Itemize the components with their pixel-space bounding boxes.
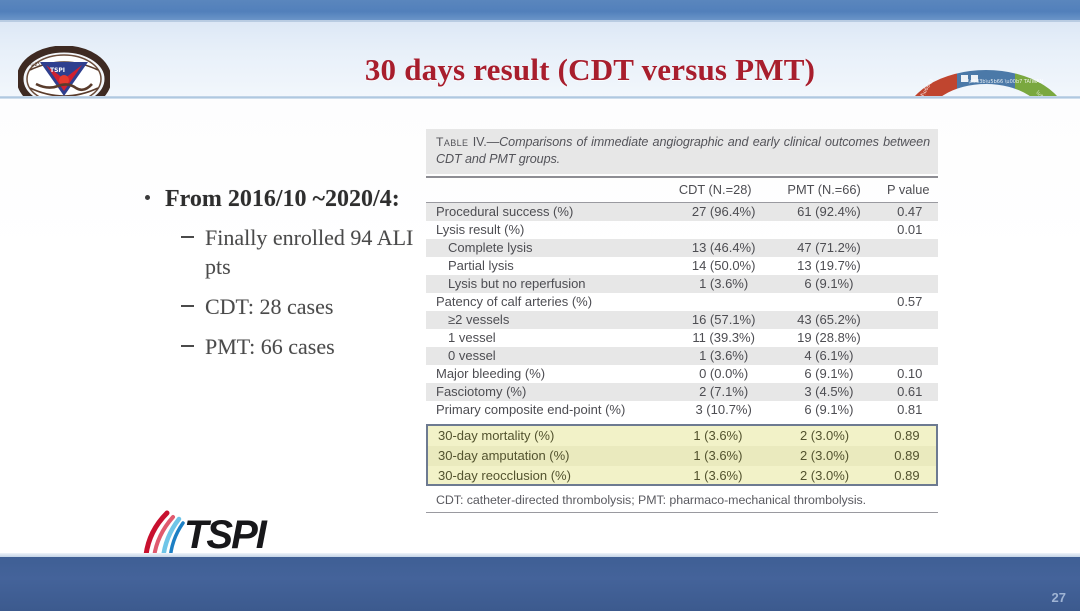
cell-pvalue: 0.57 [882,293,938,311]
results-table-body: Procedural success (%)27 (96.4%)61 (92.4… [426,203,938,419]
bullet-list: From 2016/10 ~2020/4: Finally enrolled 9… [139,183,429,372]
bullet-level2-label: PMT: 66 cases [205,334,335,359]
col-head-pvalue: P value [879,178,938,202]
page-number: 27 [1052,590,1066,605]
cell-pvalue [882,347,938,365]
bullet-level1-label: From 2016/10 ~2020/4: [165,186,400,212]
cell-pmt: 61 (92.4%) [776,203,881,221]
cell-cdt: 2 (7.1%) [671,383,776,401]
cell-pmt: 2 (3.0%) [771,426,878,446]
journal-table-figure: Table IV.—Comparisons of immediate angio… [426,129,938,419]
cell-pmt [776,221,881,239]
cell-pvalue: 0.47 [882,203,938,221]
cell-pvalue [882,311,938,329]
bullet-level2-label: Finally enrolled 94 ALI pts [205,225,413,279]
table-head: CDT (N.=28) PMT (N.=66) P value [426,178,938,202]
cell-pvalue: 0.01 [882,221,938,239]
table-row: Lysis but no reperfusion1 (3.6%)6 (9.1%) [426,275,938,293]
bullet-sublist: Finally enrolled 94 ALI pts CDT: 28 case… [139,223,429,361]
bullet-level2-label: CDT: 28 cases [205,294,333,319]
col-head-cdt: CDT (N.=28) [661,178,770,202]
bullet-level2: CDT: 28 cases [181,292,429,321]
video-bottom-letterbox: 27 [0,557,1080,611]
cell-pvalue [882,329,938,347]
cell-pmt: 2 (3.0%) [771,466,878,486]
highlight-row: 30-day amputation (%)1 (3.6%)2 (3.0%)0.8… [428,446,936,466]
table-row: Primary composite end-point (%)3 (10.7%)… [426,401,938,419]
cell-pmt [776,293,881,311]
page-title: 30 days result (CDT versus PMT) [300,52,880,88]
col-head-pmt: PMT (N.=66) [770,178,879,202]
cell-pvalue: 0.61 [882,383,938,401]
highlight-row: 30-day reocclusion (%)1 (3.6%)2 (3.0%)0.… [428,466,936,486]
cell-pvalue [882,275,938,293]
cell-label: ≥2 vessels [426,311,671,329]
svg-text:\u533b\u5b66 \u00b7 TAIWAN: \u533b\u5b66 \u00b7 TAIWAN [968,79,1044,85]
results-table: CDT (N.=28) PMT (N.=66) P value [426,178,938,202]
table-footnote-block: CDT: catheter-directed thrombolysis; PMT… [426,489,938,513]
bullet-level1: From 2016/10 ~2020/4: [139,183,429,216]
cell-label: Primary composite end-point (%) [426,401,671,419]
cell-cdt: 16 (57.1%) [671,311,776,329]
cell-cdt [671,293,776,311]
table-row: Major bleeding (%)0 (0.0%)6 (9.1%)0.10 [426,365,938,383]
cell-label: Partial lysis [426,257,671,275]
cell-label: 30-day reocclusion (%) [428,466,665,486]
cell-label: Fasciotomy (%) [426,383,671,401]
cell-cdt: 14 (50.0%) [671,257,776,275]
table-row: Fasciotomy (%)2 (7.1%)3 (4.5%)0.61 [426,383,938,401]
slide-header: \u25aa TSPI 30 days result (CDT versus P… [0,22,1080,98]
cell-cdt: 3 (10.7%) [671,401,776,419]
cell-cdt: 1 (3.6%) [671,347,776,365]
cell-cdt: 1 (3.6%) [665,426,772,446]
cell-cdt: 13 (46.4%) [671,239,776,257]
cell-pvalue [882,239,938,257]
table-footnote: CDT: catheter-directed thrombolysis; PMT… [426,489,938,511]
cell-label: 0 vessel [426,347,671,365]
slide-body: From 2016/10 ~2020/4: Finally enrolled 9… [0,99,1080,556]
table-caption-text: Comparisons of immediate angiographic an… [436,135,930,166]
thirty-day-table: 30-day mortality (%)1 (3.6%)2 (3.0%)0.89… [428,426,936,486]
cell-label: Procedural success (%) [426,203,671,221]
cell-pmt: 19 (28.8%) [776,329,881,347]
bullet-dot-icon [145,195,150,200]
table-row: Complete lysis13 (46.4%)47 (71.2%) [426,239,938,257]
table-header-row: CDT (N.=28) PMT (N.=66) P value [426,178,938,202]
cell-pmt: 6 (9.1%) [776,275,881,293]
dash-icon [181,236,194,238]
cell-cdt: 1 (3.6%) [665,466,772,486]
cell-label: Major bleeding (%) [426,365,671,383]
thirty-day-highlight-box: 30-day mortality (%)1 (3.6%)2 (3.0%)0.89… [426,424,938,486]
table-row: Lysis result (%)0.01 [426,221,938,239]
cell-pvalue: 0.89 [878,446,936,466]
video-top-letterbox [0,0,1080,21]
cell-label: Lysis result (%) [426,221,671,239]
cell-cdt [671,221,776,239]
cell-pmt: 2 (3.0%) [771,446,878,466]
cell-cdt: 27 (96.4%) [671,203,776,221]
cell-label: Complete lysis [426,239,671,257]
cell-label: 30-day mortality (%) [428,426,665,446]
table-caption: Table IV.—Comparisons of immediate angio… [426,129,938,174]
svg-text:TSPI: TSPI [50,67,65,74]
cell-label: 1 vessel [426,329,671,347]
cell-cdt: 1 (3.6%) [665,446,772,466]
tspi-wordmark: TSPI [184,513,265,558]
cell-pmt: 13 (19.7%) [776,257,881,275]
cell-pmt: 43 (65.2%) [776,311,881,329]
table-caption-label: Table [436,135,468,149]
cell-pmt: 3 (4.5%) [776,383,881,401]
cell-pmt: 4 (6.1%) [776,347,881,365]
cell-label: Patency of calf arteries (%) [426,293,671,311]
table-row: 1 vessel11 (39.3%)19 (28.8%) [426,329,938,347]
table-row: 0 vessel1 (3.6%)4 (6.1%) [426,347,938,365]
bullet-level2: PMT: 66 cases [181,332,429,361]
highlight-row: 30-day mortality (%)1 (3.6%)2 (3.0%)0.89 [428,426,936,446]
dash-icon [181,345,194,347]
cell-cdt: 11 (39.3%) [671,329,776,347]
cell-pmt: 6 (9.1%) [776,365,881,383]
cell-pvalue: 0.81 [882,401,938,419]
table-row: Partial lysis14 (50.0%)13 (19.7%) [426,257,938,275]
table-row: Procedural success (%)27 (96.4%)61 (92.4… [426,203,938,221]
cell-pvalue: 0.10 [882,365,938,383]
slide-screen: \u25aa TSPI 30 days result (CDT versus P… [0,0,1080,611]
cell-cdt: 1 (3.6%) [671,275,776,293]
society-emblem-icon: \u25aa TSPI [18,46,110,98]
cell-label: Lysis but no reperfusion [426,275,671,293]
dash-icon [181,305,194,307]
cell-pvalue: 0.89 [878,466,936,486]
bullet-level2: Finally enrolled 94 ALI pts [181,223,429,281]
cell-pmt: 6 (9.1%) [776,401,881,419]
tri-color-arc-logo: \u7834\u6643 \u533b\u5b66 \u00b7 TAIWAN … [898,66,1074,98]
col-head-blank [426,178,661,202]
table-rule-bottom [426,512,938,513]
table-row: Patency of calf arteries (%)0.57 [426,293,938,311]
cell-pvalue: 0.89 [878,426,936,446]
cell-pmt: 47 (71.2%) [776,239,881,257]
table-caption-number: IV.— [473,135,499,149]
table-row: ≥2 vessels16 (57.1%)43 (65.2%) [426,311,938,329]
cell-cdt: 0 (0.0%) [671,365,776,383]
cell-label: 30-day amputation (%) [428,446,665,466]
cell-pvalue [882,257,938,275]
